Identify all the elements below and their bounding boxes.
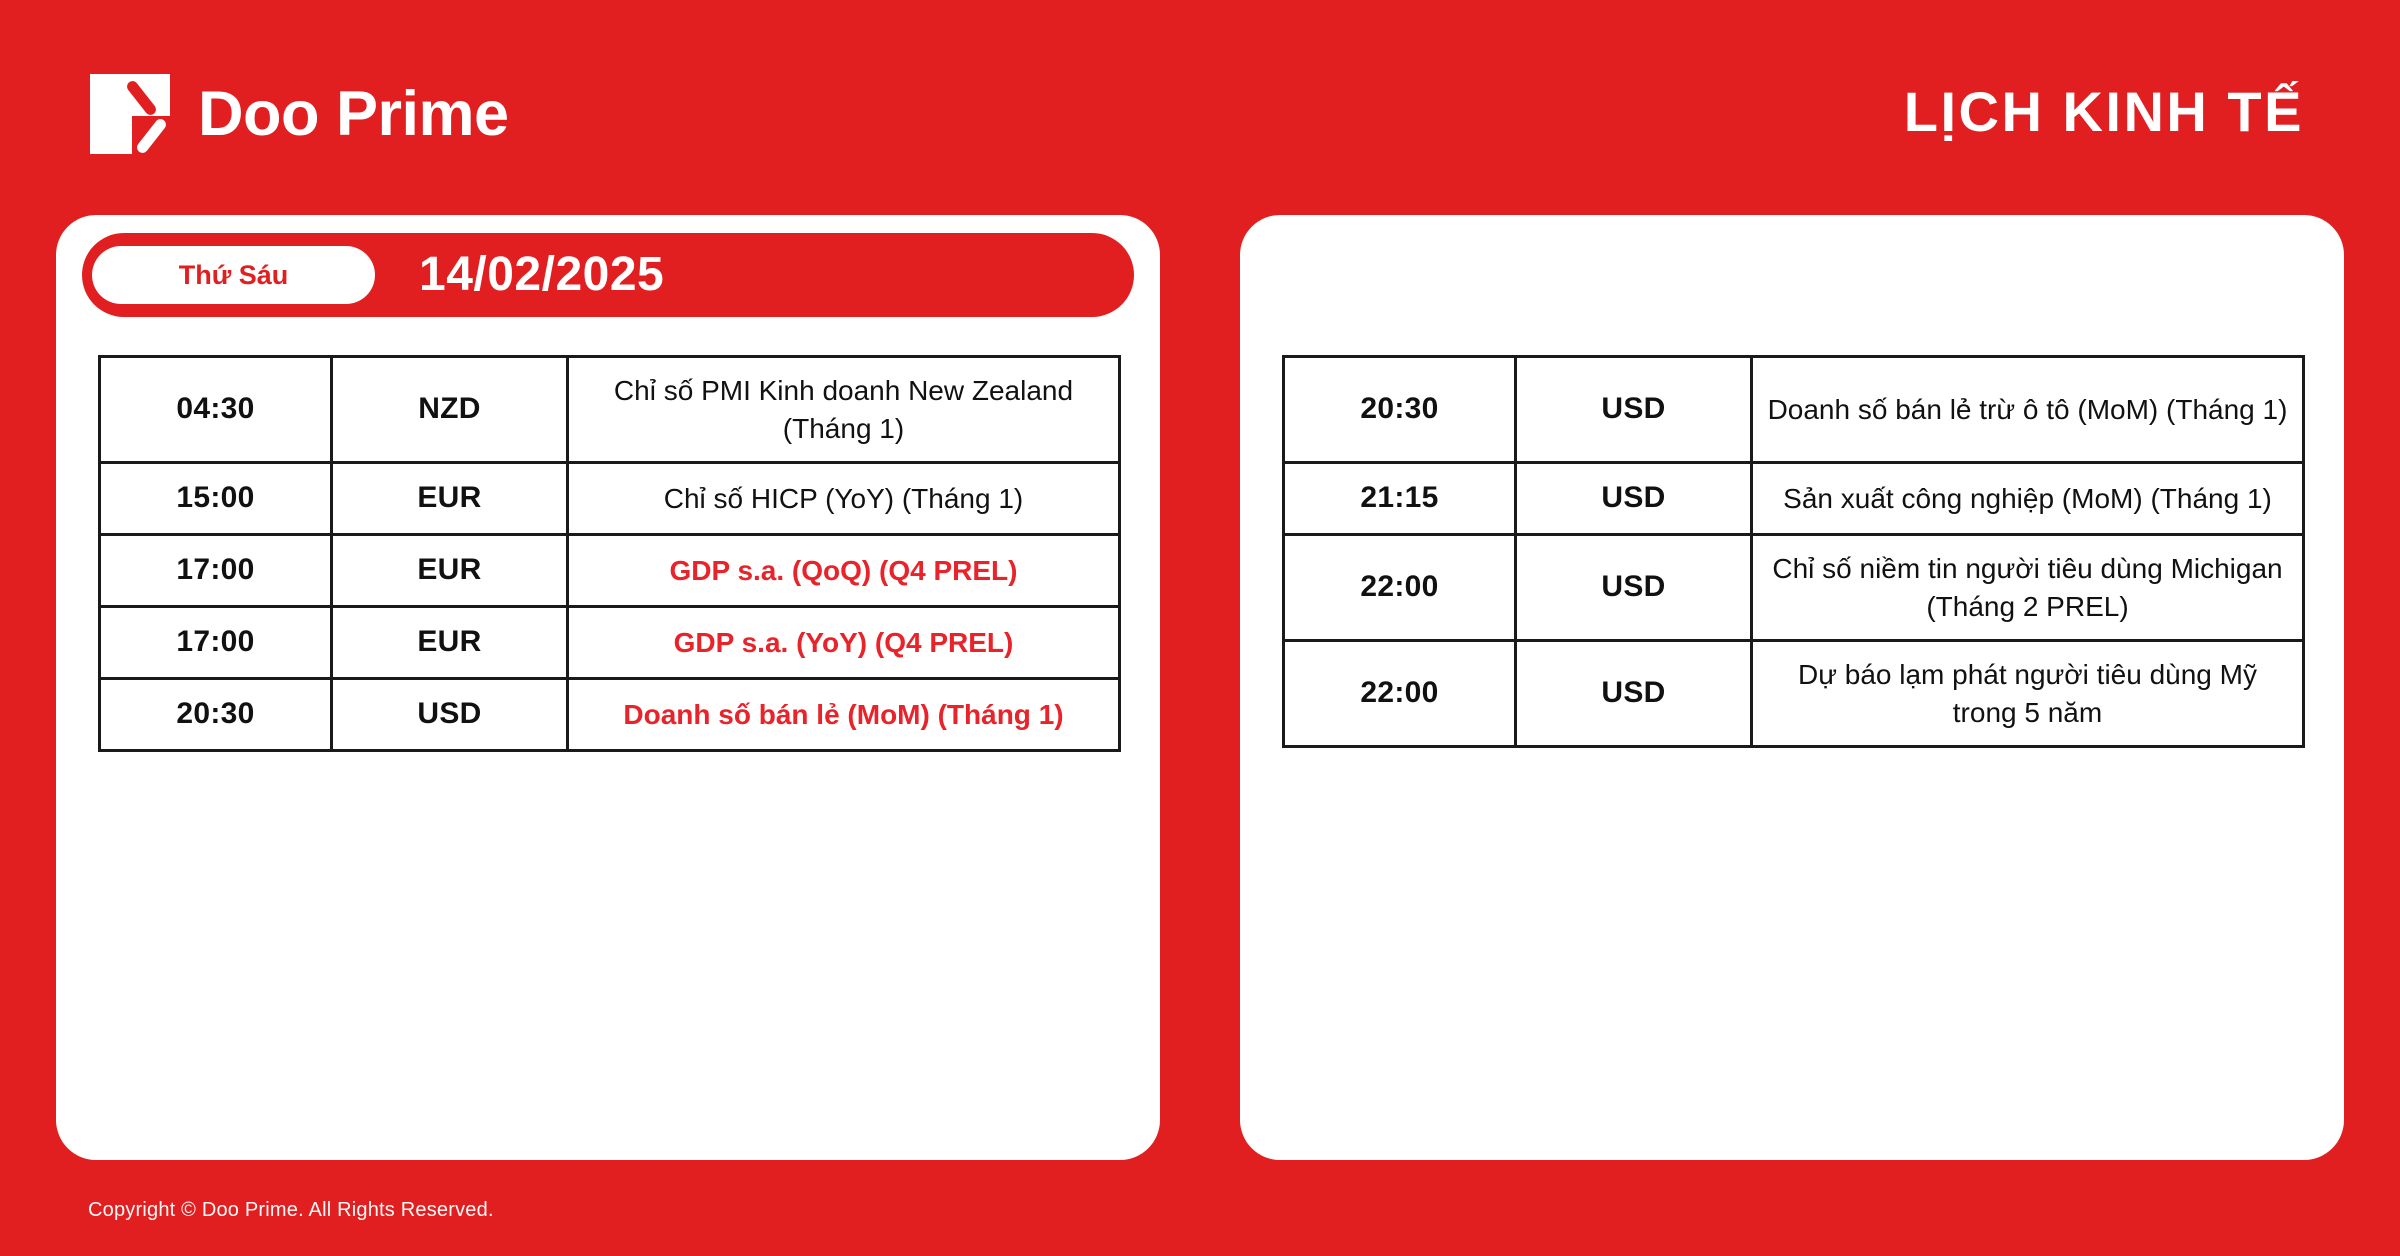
page-title: LỊCH KINH TẾ [1904,84,2304,140]
events-table-left-body: 04:30 NZD Chỉ số PMI Kinh doanh New Zeal… [100,357,1120,751]
table-row: 22:00 USD Dự báo lạm phát người tiêu dùn… [1284,641,2304,747]
table-row: 17:00 EUR GDP s.a. (YoY) (Q4 PREL) [100,607,1120,679]
event-time: 20:30 [100,679,332,751]
table-row: 15:00 EUR Chỉ số HICP (YoY) (Tháng 1) [100,463,1120,535]
event-currency: USD [1516,535,1752,641]
event-time: 17:00 [100,607,332,679]
event-currency: USD [1516,463,1752,535]
event-time: 04:30 [100,357,332,463]
event-name: Dự báo lạm phát người tiêu dùng Mỹ trong… [1752,641,2304,747]
event-currency: USD [332,679,568,751]
panels-container: Thứ Sáu 14/02/2025 04:30 NZD Chỉ số PMI … [0,215,2400,1160]
event-currency: NZD [332,357,568,463]
event-currency: USD [1516,357,1752,463]
day-label: Thứ Sáu [179,262,289,289]
event-name: Doanh số bán lẻ (MoM) (Tháng 1) [568,679,1120,751]
date-bar: Thứ Sáu 14/02/2025 [82,233,1134,317]
panel-right: 20:30 USD Doanh số bán lẻ trừ ô tô (MoM)… [1240,215,2344,1160]
table-row: 04:30 NZD Chỉ số PMI Kinh doanh New Zeal… [100,357,1120,463]
event-currency: USD [1516,641,1752,747]
event-name: Chỉ số HICP (YoY) (Tháng 1) [568,463,1120,535]
event-time: 22:00 [1284,535,1516,641]
table-row: 20:30 USD Doanh số bán lẻ trừ ô tô (MoM)… [1284,357,2304,463]
event-time: 20:30 [1284,357,1516,463]
copyright-text: Copyright © Doo Prime. All Rights Reserv… [88,1199,494,1222]
page-header: Doo Prime LỊCH KINH TẾ [0,0,2400,215]
events-table-right-body: 20:30 USD Doanh số bán lẻ trừ ô tô (MoM)… [1284,357,2304,747]
event-name: Chỉ số PMI Kinh doanh New Zealand (Tháng… [568,357,1120,463]
brand-logo: Doo Prime [88,72,509,156]
event-currency: EUR [332,607,568,679]
event-currency: EUR [332,535,568,607]
event-time: 17:00 [100,535,332,607]
panel-left: Thứ Sáu 14/02/2025 04:30 NZD Chỉ số PMI … [56,215,1160,1160]
brand-name: Doo Prime [198,83,509,146]
event-name: Doanh số bán lẻ trừ ô tô (MoM) (Tháng 1) [1752,357,2304,463]
table-row: 21:15 USD Sản xuất công nghiệp (MoM) (Th… [1284,463,2304,535]
event-name: Chỉ số niềm tin người tiêu dùng Michigan… [1752,535,2304,641]
day-pill: Thứ Sáu [92,246,375,304]
doo-prime-logo-mark-icon [88,72,172,156]
table-row: 17:00 EUR GDP s.a. (QoQ) (Q4 PREL) [100,535,1120,607]
table-row: 22:00 USD Chỉ số niềm tin người tiêu dùn… [1284,535,2304,641]
event-time: 21:15 [1284,463,1516,535]
events-table-left: 04:30 NZD Chỉ số PMI Kinh doanh New Zeal… [98,355,1121,752]
event-name: GDP s.a. (QoQ) (Q4 PREL) [568,535,1120,607]
event-currency: EUR [332,463,568,535]
event-name: Sản xuất công nghiệp (MoM) (Tháng 1) [1752,463,2304,535]
event-name: GDP s.a. (YoY) (Q4 PREL) [568,607,1120,679]
table-row: 20:30 USD Doanh số bán lẻ (MoM) (Tháng 1… [100,679,1120,751]
date-value: 14/02/2025 [419,251,664,299]
event-time: 22:00 [1284,641,1516,747]
events-table-right: 20:30 USD Doanh số bán lẻ trừ ô tô (MoM)… [1282,355,2305,748]
event-time: 15:00 [100,463,332,535]
